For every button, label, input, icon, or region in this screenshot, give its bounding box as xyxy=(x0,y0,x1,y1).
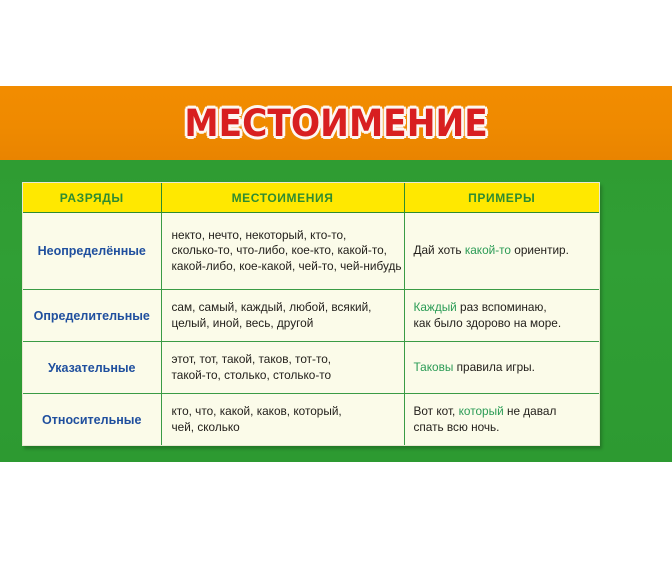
example-cell: Каждый раз вспоминаю,как было здорово на… xyxy=(404,290,599,342)
pronoun-table: РАЗРЯДЫ МЕСТОИМЕНИЯ ПРИМЕРЫ Неопределённ… xyxy=(23,183,599,445)
column-header-examples: ПРИМЕРЫ xyxy=(404,183,599,213)
table-row: Указательныеэтот, тот, такой, таков, тот… xyxy=(23,342,599,394)
table-row: Неопределённыенекто, нечто, некоторый, к… xyxy=(23,213,599,290)
category-cell: Определительные xyxy=(23,290,161,342)
table-row: Определительныесам, самый, каждый, любой… xyxy=(23,290,599,342)
example-cell: Дай хоть какой-то ориентир. xyxy=(404,213,599,290)
pronouns-line: какой-либо, кое-какой, чей-то, чей-нибуд… xyxy=(172,259,396,275)
table-body: Неопределённыенекто, нечто, некоторый, к… xyxy=(23,213,599,446)
highlighted-pronoun: какой-то xyxy=(465,243,511,257)
pronouns-cell: кто, что, какой, каков, который,чей, ско… xyxy=(161,394,404,445)
example-line: Каждый раз вспоминаю, xyxy=(414,300,592,316)
pronouns-line: сам, самый, каждый, любой, всякий, xyxy=(172,300,396,316)
example-text: Вот кот, xyxy=(414,404,459,418)
example-line: Таковы правила игры. xyxy=(414,360,592,376)
example-line: Дай хоть какой-то ориентир. xyxy=(414,243,592,259)
example-cell: Таковы правила игры. xyxy=(404,342,599,394)
header-row: РАЗРЯДЫ МЕСТОИМЕНИЯ ПРИМЕРЫ xyxy=(23,183,599,213)
category-cell: Относительные xyxy=(23,394,161,445)
pronouns-line: чей, сколько xyxy=(172,420,396,436)
example-line: как было здорово на море. xyxy=(414,316,592,332)
pronouns-cell: этот, тот, такой, таков, тот-то,такой-то… xyxy=(161,342,404,394)
poster-root: МЕСТОИМЕНИЕ РАЗРЯДЫ МЕСТОИМЕНИЯ ПРИМЕРЫ … xyxy=(0,0,672,569)
pronouns-cell: сам, самый, каждый, любой, всякий,целый,… xyxy=(161,290,404,342)
title-banner: МЕСТОИМЕНИЕ xyxy=(0,86,672,160)
example-text: ориентир. xyxy=(511,243,569,257)
example-text: спать всю ночь. xyxy=(414,420,500,434)
pronouns-line: этот, тот, такой, таков, тот-то, xyxy=(172,352,396,368)
pronouns-line: некто, нечто, некоторый, кто-то, xyxy=(172,228,396,244)
highlighted-pronoun: который xyxy=(459,404,504,418)
example-text: Дай хоть xyxy=(414,243,465,257)
example-text: не давал xyxy=(504,404,557,418)
example-cell: Вот кот, который не давалспать всю ночь. xyxy=(404,394,599,445)
pronouns-line: кто, что, какой, каков, который, xyxy=(172,404,396,420)
pronouns-line: сколько-то, что-либо, кое-кто, какой-то, xyxy=(172,243,396,259)
table-header: РАЗРЯДЫ МЕСТОИМЕНИЯ ПРИМЕРЫ xyxy=(23,183,599,213)
category-cell: Указательные xyxy=(23,342,161,394)
example-text: как было здорово на море. xyxy=(414,316,562,330)
example-line: спать всю ночь. xyxy=(414,420,592,436)
column-header-categories: РАЗРЯДЫ xyxy=(23,183,161,213)
column-header-pronouns: МЕСТОИМЕНИЯ xyxy=(161,183,404,213)
highlighted-pronoun: Таковы xyxy=(414,360,454,374)
pronoun-table-container: РАЗРЯДЫ МЕСТОИМЕНИЯ ПРИМЕРЫ Неопределённ… xyxy=(22,182,600,446)
highlighted-pronoun: Каждый xyxy=(414,300,457,314)
example-text: раз вспоминаю, xyxy=(457,300,547,314)
pronouns-line: такой-то, столько, столько-то xyxy=(172,368,396,384)
category-cell: Неопределённые xyxy=(23,213,161,290)
page-title: МЕСТОИМЕНИЕ xyxy=(184,102,487,145)
example-text: правила игры. xyxy=(453,360,535,374)
example-line: Вот кот, который не давал xyxy=(414,404,592,420)
pronouns-line: целый, иной, весь, другой xyxy=(172,316,396,332)
pronouns-cell: некто, нечто, некоторый, кто-то,сколько-… xyxy=(161,213,404,290)
table-row: Относительныекто, что, какой, каков, кот… xyxy=(23,394,599,445)
